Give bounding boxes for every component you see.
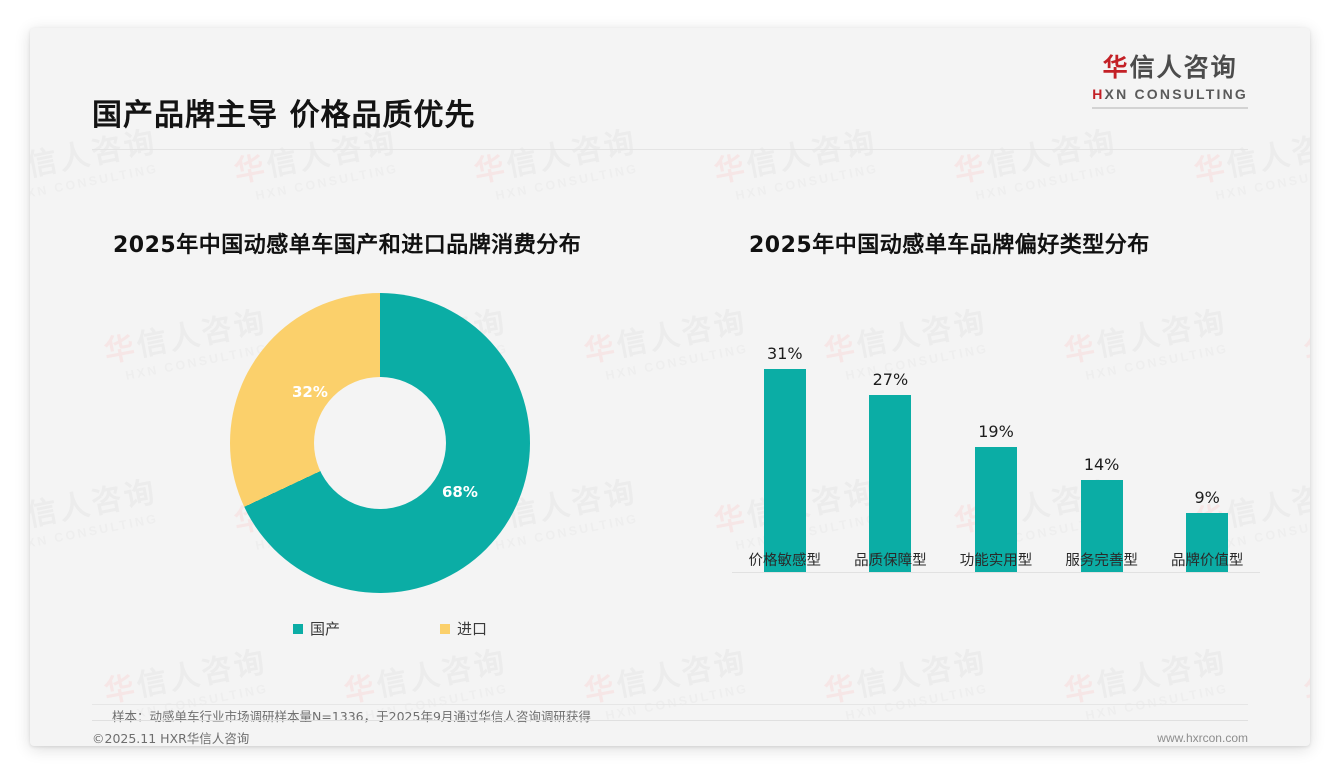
bar-column[interactable]: 27% [840, 302, 940, 572]
header-divider [92, 149, 1248, 150]
logo-cn-red: 华 [1103, 53, 1130, 82]
left-chart-title: 2025年中国动感单车国产和进口品牌消费分布 [113, 227, 581, 259]
bar-value-label: 9% [1194, 488, 1219, 507]
bar-category-label: 品牌价值型 [1157, 549, 1257, 570]
legend-item-domestic[interactable]: 国产 [293, 618, 340, 639]
donut-label-import: 32% [292, 383, 328, 401]
legend-label-domestic: 国产 [310, 618, 340, 639]
logo-cn-rest: 信人咨询 [1130, 53, 1238, 82]
bar-category-label: 品质保障型 [840, 549, 940, 570]
watermark-tile: 华信人咨询HXN CONSULTING [1300, 297, 1310, 386]
bar-column[interactable]: 19% [946, 302, 1046, 572]
footer-divider [92, 704, 1248, 705]
watermark-tile: 华信人咨询HXN CONSULTING [950, 117, 1123, 206]
website-url[interactable]: www.hxrcon.com [1157, 731, 1248, 745]
logo-underline [1092, 107, 1248, 109]
donut-hole [314, 377, 446, 509]
bar-value-label: 19% [978, 422, 1014, 441]
right-chart-title: 2025年中国动感单车品牌偏好类型分布 [749, 227, 1150, 259]
panel-brand-origin: 2025年中国动感单车国产和进口品牌消费分布 68% 32% 国产 进口 [80, 213, 700, 653]
legend-label-import: 进口 [457, 618, 487, 639]
bar-value-label: 31% [767, 344, 803, 363]
watermark-tile: 华信人咨询HXN CONSULTING [1190, 117, 1310, 206]
bar-category-label: 功能实用型 [946, 549, 1046, 570]
watermark-tile: 华信人咨询HXN CONSULTING [470, 117, 643, 206]
bar-axis-baseline [732, 572, 1260, 573]
logo-en-red: H [1092, 86, 1104, 102]
donut-chart: 68% 32% [230, 293, 530, 593]
bar-rect[interactable] [764, 369, 806, 572]
logo-english-text: HXN CONSULTING [1092, 86, 1248, 102]
slide-footer: ©2025.11 HXR华信人咨询 www.hxrcon.com [92, 720, 1248, 746]
watermark-tile: 华信人咨询HXN CONSULTING [1300, 637, 1310, 726]
page-title: 国产品牌主导 价格品质优先 [92, 90, 475, 134]
bar-column[interactable]: 14% [1052, 302, 1152, 572]
panel-brand-preference: 2025年中国动感单车品牌偏好类型分布 31%价格敏感型27%品质保障型19%功… [720, 213, 1260, 653]
legend-swatch-domestic [293, 624, 303, 634]
bar-category-label: 服务完善型 [1052, 549, 1152, 570]
slide-canvas: 华信人咨询HXN CONSULTING华信人咨询HXN CONSULTING华信… [30, 28, 1310, 746]
donut-legend: 国产 进口 [230, 618, 550, 639]
slide-header: 国产品牌主导 价格品质优先 华信人咨询 HXN CONSULTING [30, 28, 1310, 122]
legend-item-import[interactable]: 进口 [440, 618, 487, 639]
bar-rect[interactable] [869, 395, 911, 572]
bar-column[interactable]: 9% [1157, 302, 1257, 572]
brand-logo: 华信人咨询 HXN CONSULTING [1092, 54, 1248, 109]
bar-chart: 31%价格敏感型27%品质保障型19%功能实用型14%服务完善型9%品牌价值型 [732, 273, 1260, 573]
logo-chinese-text: 华信人咨询 [1092, 54, 1248, 83]
logo-en-rest: XN CONSULTING [1105, 86, 1248, 102]
watermark-tile: 华信人咨询HXN CONSULTING [710, 117, 883, 206]
bar-value-label: 14% [1084, 455, 1120, 474]
donut-label-domestic: 68% [442, 483, 478, 501]
copyright-text: ©2025.11 HXR华信人咨询 [92, 728, 249, 746]
legend-swatch-import [440, 624, 450, 634]
bar-value-label: 27% [873, 370, 909, 389]
bar-category-label: 价格敏感型 [735, 549, 835, 570]
bar-column[interactable]: 31% [735, 302, 835, 572]
